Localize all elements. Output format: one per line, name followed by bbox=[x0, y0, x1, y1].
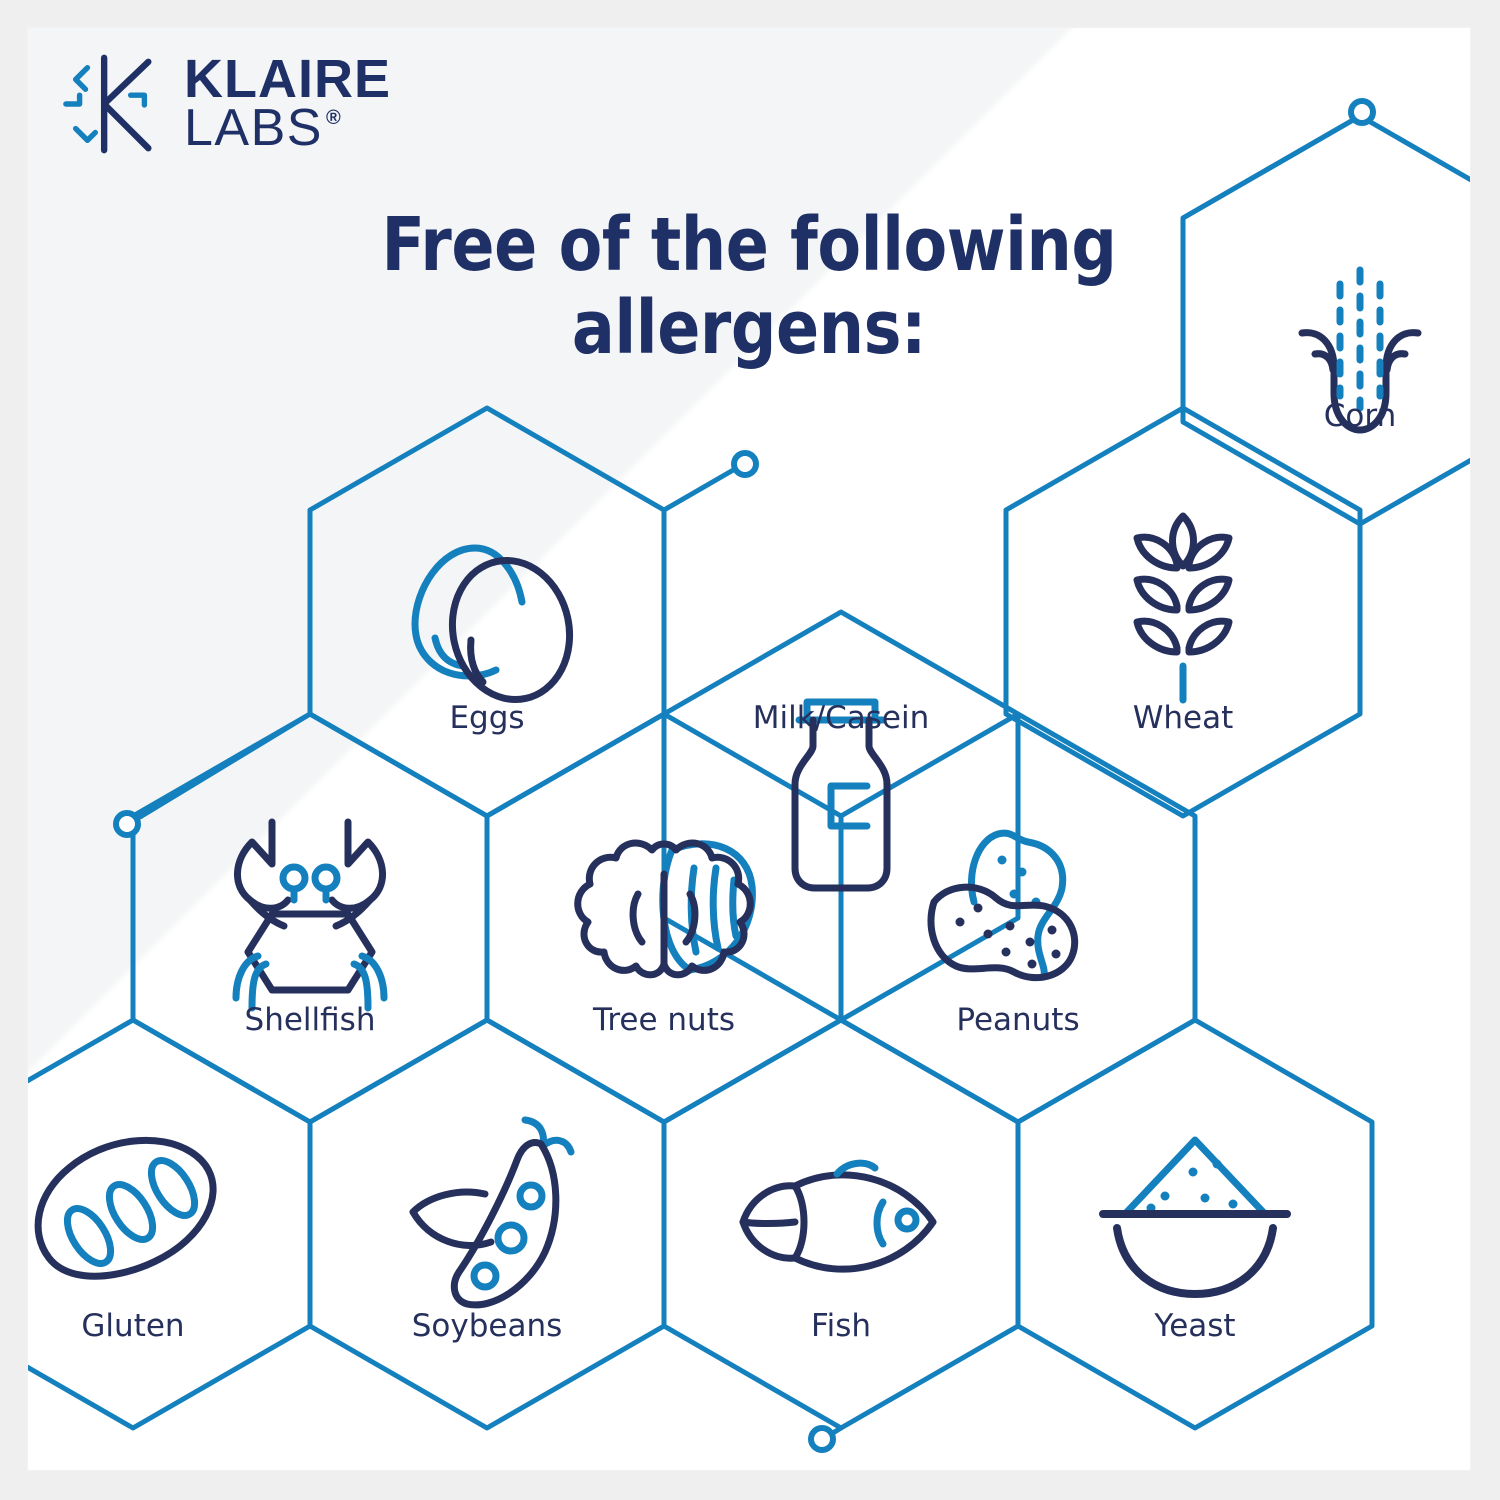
hex-yeast bbox=[1018, 1020, 1372, 1428]
eggs-icon bbox=[415, 548, 582, 711]
hex-wheat bbox=[1006, 408, 1360, 816]
label-soybeans: Soybeans bbox=[412, 1308, 563, 1344]
hex-eggs bbox=[310, 408, 664, 816]
node-circle-mid-top bbox=[734, 453, 756, 475]
fish-icon bbox=[743, 1163, 933, 1269]
label-shellfish: Shellfish bbox=[245, 1002, 376, 1038]
label-fish: Fish bbox=[811, 1308, 871, 1344]
hex-shellfish bbox=[133, 714, 487, 1122]
yeast-bowl-icon bbox=[1103, 1140, 1287, 1294]
honeycomb-grid: Corn Eggs Milk/Casein Wheat Shellfish Tr… bbox=[28, 28, 1470, 1470]
white-card: KLAIRE LABS® Free of the following aller… bbox=[28, 28, 1470, 1470]
label-peanuts: Peanuts bbox=[956, 1002, 1079, 1038]
node-line-top-right bbox=[1183, 120, 1353, 218]
label-eggs: Eggs bbox=[449, 700, 524, 736]
label-treenuts: Tree nuts bbox=[592, 1002, 735, 1038]
label-corn: Corn bbox=[1324, 398, 1396, 434]
poster-canvas: KLAIRE LABS® Free of the following aller… bbox=[0, 0, 1500, 1500]
label-gluten: Gluten bbox=[81, 1308, 184, 1344]
soy-pod-icon bbox=[413, 1120, 571, 1305]
node-line-mid-top bbox=[664, 469, 735, 510]
bread-loaf-icon bbox=[38, 1140, 213, 1276]
wheat-stalk-icon bbox=[1137, 516, 1229, 700]
hex-fish bbox=[664, 1020, 1018, 1428]
walnut-almond-icon bbox=[578, 843, 753, 975]
node-circle-left bbox=[116, 813, 138, 835]
hex-corn bbox=[1183, 116, 1470, 524]
crab-icon bbox=[236, 822, 384, 1008]
label-wheat: Wheat bbox=[1133, 700, 1234, 736]
label-milk: Milk/Casein bbox=[753, 700, 930, 736]
node-line-left2 bbox=[140, 714, 310, 817]
label-yeast: Yeast bbox=[1153, 1308, 1235, 1344]
node-circle-bottom bbox=[811, 1428, 833, 1450]
node-circle-top-right bbox=[1351, 101, 1373, 123]
